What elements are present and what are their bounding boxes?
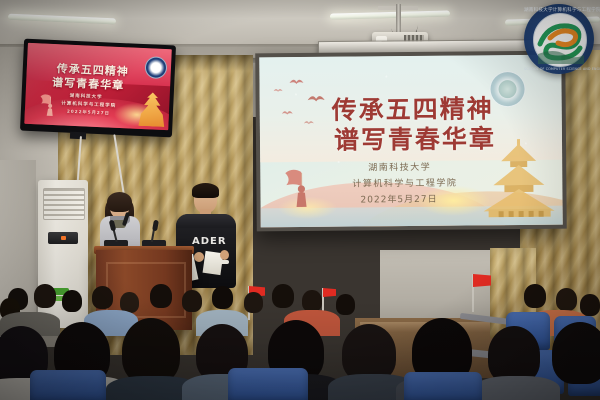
tv-screen: 传承五四精神 谱写青春华章 湖南科技大学 计算机科学与工程学院 2022年5月2… <box>24 43 172 130</box>
university-emblem-watermark: 湖南科技大学计算机科学与工程学院 SCHOOL OF COMPUTER SCIE… <box>524 4 594 74</box>
slide-university-seal <box>489 71 525 107</box>
emblem-text-english: SCHOOL OF COMPUTER SCIENCE AND ENGINEERI… <box>524 67 594 71</box>
slide-seal-inner <box>498 80 516 98</box>
emblem-text-chinese: 湖南科技大学计算机科学与工程学院 <box>524 7 594 13</box>
slide-date: 2022年5月27日 <box>360 192 437 206</box>
tv-mount <box>70 132 86 140</box>
hair <box>107 192 132 212</box>
wall-mounted-tv: 传承五四精神 谱写青春华章 湖南科技大学 计算机科学与工程学院 2022年5月2… <box>20 39 176 138</box>
slide-subtitle-school: 计算机科学与工程学院 <box>352 176 457 190</box>
slide-subtitle-university: 湖南科技大学 <box>368 160 431 174</box>
dove-icon <box>274 87 283 93</box>
slide-title-line2: 谱写青春华章 <box>334 119 496 156</box>
tv-flag-bearer-silhouette <box>39 90 62 117</box>
projection-screen-frame: 传承五四精神 谱写青春华章 湖南科技大学 计算机科学与工程学院 2022年5月2… <box>255 51 567 232</box>
emblem-swoosh-icon <box>534 14 586 66</box>
projection-screen: 传承五四精神 谱写青春华章 湖南科技大学 计算机科学与工程学院 2022年5月2… <box>259 55 562 228</box>
hair <box>192 183 219 198</box>
air-conditioner-display-panel <box>48 232 78 244</box>
wristband <box>220 260 229 264</box>
auditorium-photo: 传承五四精神 谱写青春华章 湖南科技大学 计算机科学与工程学院 2022年5月2… <box>0 0 600 400</box>
emblem-inner-disc <box>533 13 587 67</box>
flag-bearer-silhouette <box>282 163 322 211</box>
power-led-icon <box>61 236 66 240</box>
tshirt-shoulders <box>176 214 236 228</box>
hand <box>194 252 204 262</box>
tshirt-logo-text: ADER <box>192 236 227 247</box>
dove-icon <box>308 93 325 104</box>
hand <box>220 250 229 260</box>
air-conditioner-vents <box>43 188 85 220</box>
foreground-shading <box>0 300 600 400</box>
dove-icon <box>282 109 293 116</box>
dove-icon <box>289 77 303 86</box>
dove-icon <box>304 119 314 126</box>
tv-title-line2: 谱写青春华章 <box>52 74 125 93</box>
